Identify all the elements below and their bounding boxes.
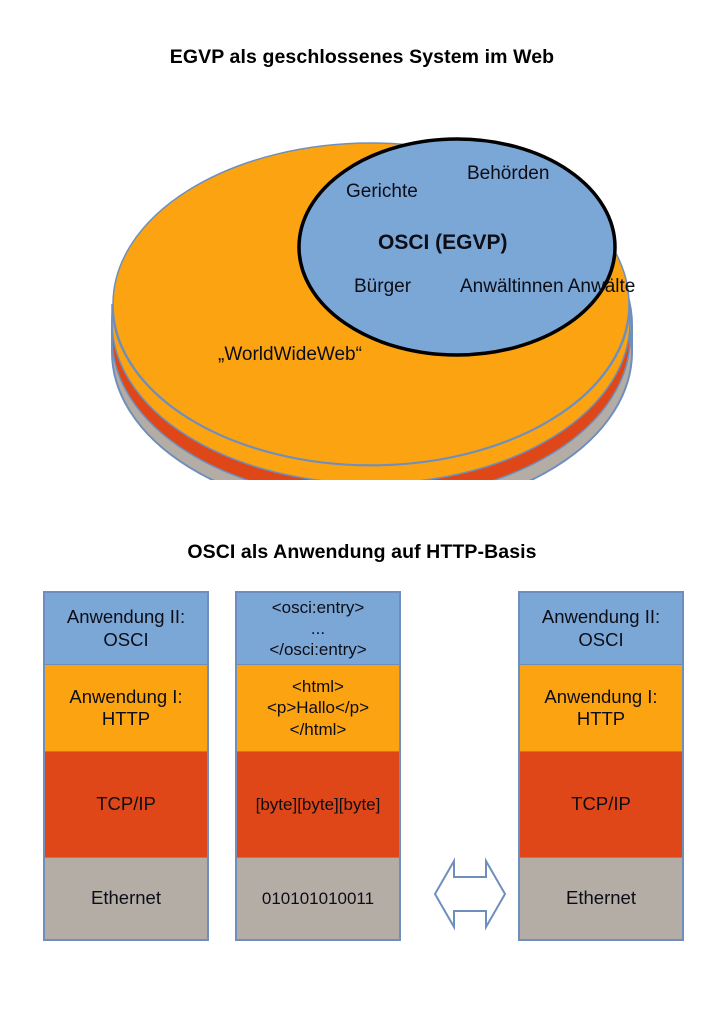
bidirectional-arrow-icon — [432, 856, 508, 932]
payload-layer-application2: <osci:entry> ... </osci:entry> — [237, 593, 399, 665]
payload-layer-link: 010101010011 — [237, 858, 399, 939]
egvp-cylinder-figure: Gerichte Behörden OSCI (EGVP) Bürger Anw… — [0, 80, 724, 480]
receiver-layer-link: Ethernet — [520, 858, 682, 939]
sender-layer-application1: Anwendung I: HTTP — [45, 665, 207, 752]
sender-layer-transport: TCP/IP — [45, 752, 207, 858]
receiver-layer-application1: Anwendung I: HTTP — [520, 665, 682, 752]
receiver-layer-application2: Anwendung II: OSCI — [520, 593, 682, 665]
actor-label-behoerden: Behörden — [467, 163, 549, 185]
payload-layer-application1: <html> <p>Hallo</p> </html> — [237, 665, 399, 752]
payload-layer-transport: [byte][byte][byte] — [237, 752, 399, 858]
sender-layer-application2: Anwendung II: OSCI — [45, 593, 207, 665]
actor-label-gerichte: Gerichte — [346, 181, 418, 203]
worldwideweb-label: „WorldWideWeb“ — [218, 344, 362, 366]
top-figure-title: EGVP als geschlossenes System im Web — [0, 46, 724, 69]
protocol-stack-figure: Anwendung II: OSCI Anwendung I: HTTP TCP… — [0, 520, 724, 980]
osci-egvp-title: OSCI (EGVP) — [378, 231, 508, 255]
actor-label-buerger: Bürger — [354, 276, 411, 298]
actor-label-anwaeltinnen-anwaelte: Anwältinnen Anwälte — [460, 276, 635, 298]
sender-layer-link: Ethernet — [45, 858, 207, 939]
receiver-layer-transport: TCP/IP — [520, 752, 682, 858]
receiver-stack: Anwendung II: OSCI Anwendung I: HTTP TCP… — [518, 591, 684, 941]
payload-stack: <osci:entry> ... </osci:entry> <html> <p… — [235, 591, 401, 941]
sender-stack: Anwendung II: OSCI Anwendung I: HTTP TCP… — [43, 591, 209, 941]
